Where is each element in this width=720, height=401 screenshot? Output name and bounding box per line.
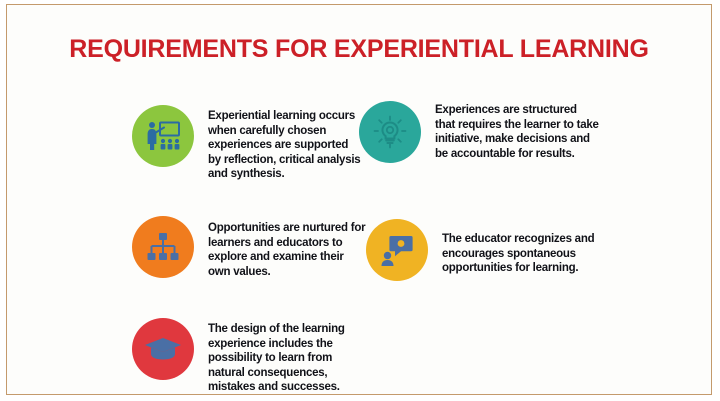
icon-badge-3 <box>132 216 194 278</box>
icon-badge-1 <box>132 105 194 167</box>
requirement-item-3[interactable]: Opportunities are nurtured for learners … <box>132 216 367 279</box>
requirement-text-4: The educator recognizes and encourages s… <box>442 219 606 276</box>
person-speech-bubble-icon <box>381 234 413 266</box>
teacher-whiteboard-icon <box>145 120 181 152</box>
icon-badge-4 <box>366 219 428 281</box>
requirement-text-2: Experiences are structured that requires… <box>435 101 599 161</box>
requirement-item-4[interactable]: The educator recognizes and encourages s… <box>366 219 606 281</box>
requirement-item-1[interactable]: Experiential learning occurs when carefu… <box>132 105 362 182</box>
hierarchy-org-chart-icon <box>147 233 179 261</box>
requirement-text-5: The design of the learning experience in… <box>208 318 362 395</box>
requirement-text-1: Experiential learning occurs when carefu… <box>208 105 362 182</box>
graduation-cap-icon <box>144 336 182 362</box>
icon-badge-2 <box>359 101 421 163</box>
requirement-item-2[interactable]: Experiences are structured that requires… <box>359 101 599 163</box>
slide-canvas: REQUIREMENTS FOR EXPERIENTIAL LEARNING E… <box>6 4 712 395</box>
page-title: REQUIREMENTS FOR EXPERIENTIAL LEARNING <box>7 35 711 64</box>
lightbulb-idea-icon <box>373 115 407 149</box>
requirement-text-3: Opportunities are nurtured for learners … <box>208 216 367 279</box>
requirement-item-5[interactable]: The design of the learning experience in… <box>132 318 362 395</box>
icon-badge-5 <box>132 318 194 380</box>
